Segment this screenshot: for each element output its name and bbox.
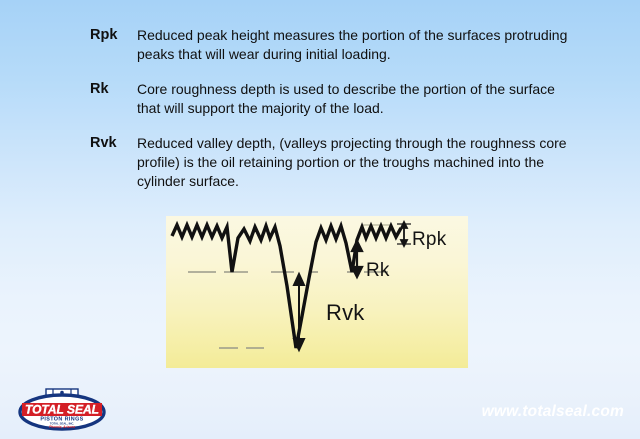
definition-term-rk: Rk	[90, 80, 137, 99]
logo-title: TOTAL SEAL	[25, 403, 99, 417]
definition-text-rpk: Reduced peak height measures the portion…	[137, 26, 568, 64]
definition-term-rpk: Rpk	[90, 26, 137, 45]
website-url[interactable]: www.totalseal.com	[482, 403, 624, 421]
definition-row-rvk: Rvk Reduced valley depth, (valleys proje…	[90, 134, 568, 191]
definition-list: Rpk Reduced peak height measures the por…	[90, 26, 568, 207]
definition-term-rvk: Rvk	[90, 134, 137, 153]
definition-text-rvk: Reduced valley depth, (valleys projectin…	[137, 134, 568, 191]
definition-row-rpk: Rpk Reduced peak height measures the por…	[90, 26, 568, 64]
definition-row-rk: Rk Core roughness depth is used to descr…	[90, 80, 568, 118]
diagram-label-rk: Rk	[366, 261, 390, 280]
logo-graphic: TOTAL SEAL PISTON RINGS TOTAL SEAL, INC.…	[14, 388, 110, 432]
surface-profile-trace	[172, 225, 401, 348]
slide: Rpk Reduced peak height measures the por…	[0, 0, 640, 439]
definition-text-rk: Core roughness depth is used to describe…	[137, 80, 568, 118]
logo-location-line: Phoenix, Arizona	[49, 425, 75, 429]
diagram-label-rvk: Rvk	[326, 302, 365, 324]
roughness-profile-diagram: Rpk Rk Rvk	[166, 216, 468, 368]
total-seal-logo: TOTAL SEAL PISTON RINGS TOTAL SEAL, INC.…	[14, 388, 110, 432]
diagram-label-rpk: Rpk	[412, 230, 446, 249]
